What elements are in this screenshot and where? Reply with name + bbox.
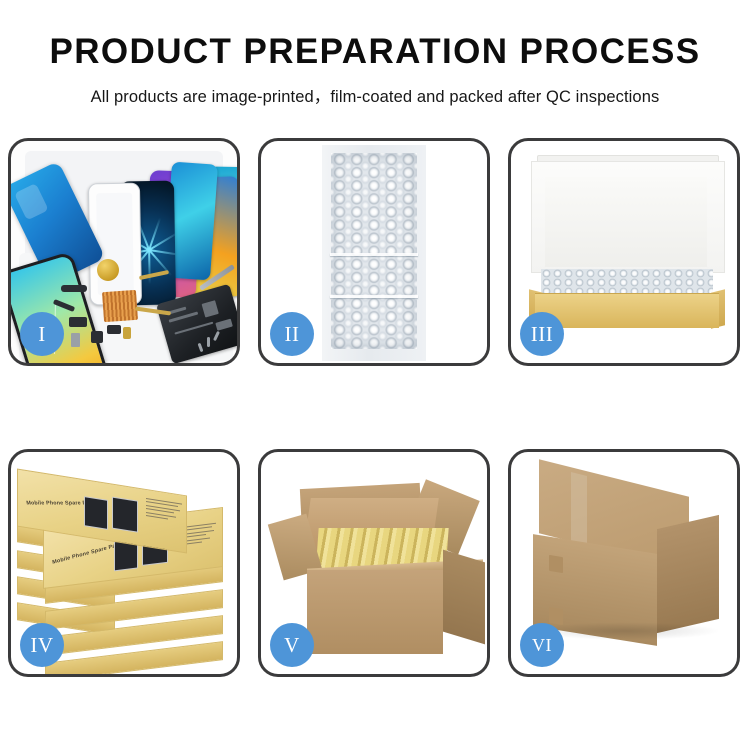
steps-grid: I II III: [8, 138, 742, 683]
box-artwork-screen-4: [112, 497, 138, 533]
step-badge-3: III: [520, 312, 564, 356]
camera-module-gold: [97, 259, 119, 281]
page-subtitle: All products are image-printed，film-coat…: [0, 83, 750, 107]
small-component-part: [69, 317, 87, 327]
bubble-wrap-seam-2: [330, 295, 418, 298]
mailer-lid-inner-panel: [545, 177, 707, 267]
step-panel-6: VI: [508, 449, 740, 677]
step-panel-1: I: [8, 138, 240, 366]
carton-front-face: [307, 570, 443, 654]
copper-shield-plate: [102, 290, 138, 322]
step-badge-6: VI: [520, 623, 564, 667]
step-panel-3: III: [508, 138, 740, 366]
carton-tab-upper: [549, 555, 563, 573]
box-spec-lines-top: [146, 498, 184, 524]
product-preparation-infographic: PRODUCT PREPARATION PROCESS All products…: [0, 0, 750, 750]
battery-connector-part: [123, 327, 131, 339]
bubble-wrap-seam: [330, 253, 418, 256]
step-badge-4: IV: [20, 623, 64, 667]
step-panel-2: II: [258, 138, 490, 366]
earpiece-speaker-part: [61, 285, 87, 292]
vibrator-part: [91, 331, 103, 343]
box-label-text: Mobile Phone Spare Parts: [52, 541, 123, 565]
step-badge-2: II: [270, 312, 314, 356]
header: PRODUCT PREPARATION PROCESS All products…: [0, 0, 750, 107]
step-panel-4: Mobile Phone Spare Parts Mobile Phone Sp…: [8, 449, 240, 677]
page-title: PRODUCT PREPARATION PROCESS: [0, 34, 750, 71]
sim-tray-part: [71, 333, 80, 347]
bubble-wrap-bubbles: [331, 153, 417, 349]
box-artwork-screen-3: [84, 496, 108, 530]
screw-part: [207, 337, 210, 347]
mailer-box-front: [535, 293, 719, 328]
step-panel-5: V: [258, 449, 490, 677]
carton-right-face: [443, 550, 485, 645]
sealed-carton-right-face: [657, 515, 719, 633]
speaker-module-part: [107, 325, 121, 334]
step-badge-5: V: [270, 623, 314, 667]
step-badge-1: I: [20, 312, 64, 356]
